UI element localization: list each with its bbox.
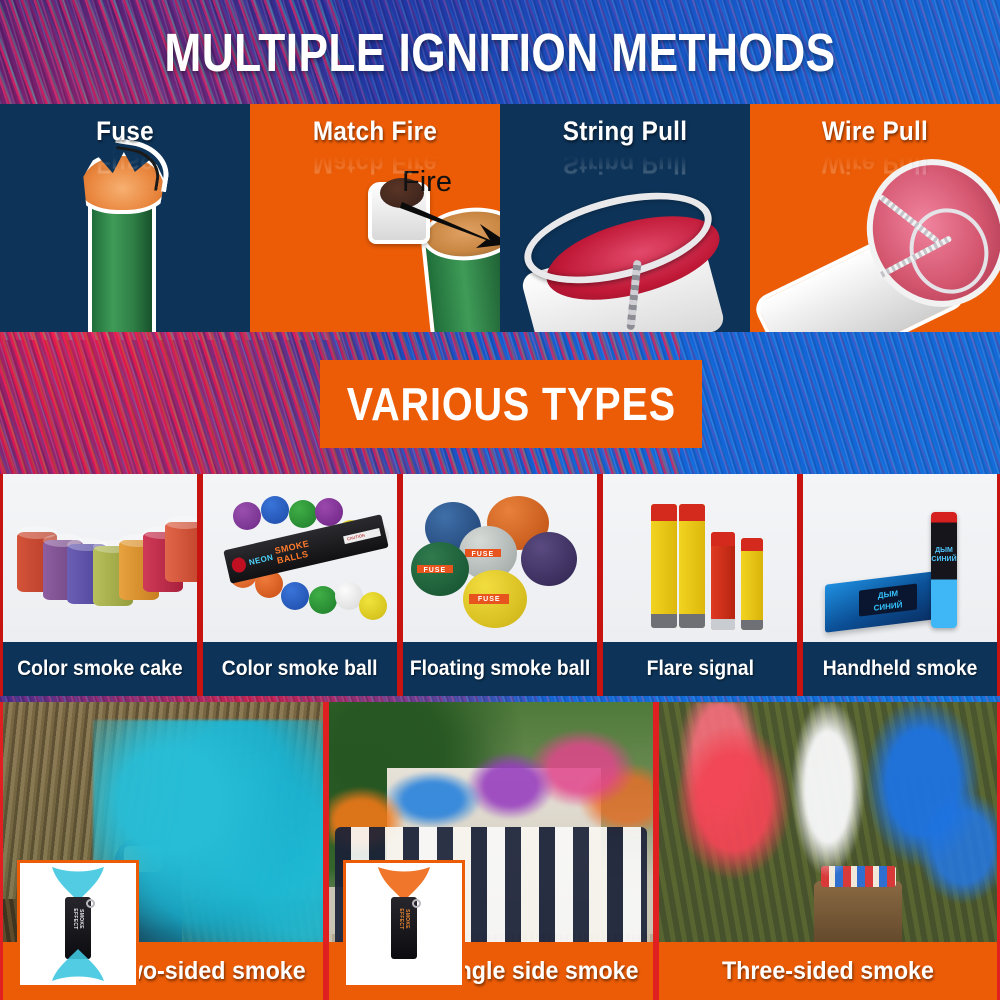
flare-foot-icon: [711, 619, 735, 630]
flare-cap-icon: [711, 532, 735, 546]
product-card-label-text: Flare signal: [646, 657, 753, 681]
flare-tube: [679, 504, 705, 628]
product-card-label-text: Floating smoke ball: [410, 657, 590, 681]
usage-scene-two-sided[interactable]: SMOKE EFFECT Two-sided smoke: [0, 702, 326, 1000]
package-caution-text: CAUTION: [343, 528, 381, 544]
smoke-ball: [233, 502, 261, 530]
ignition-method-reflection: Wire Pull: [763, 148, 988, 179]
pull-ring-icon: [412, 899, 421, 908]
flare-foot-icon: [651, 614, 677, 628]
various-types-title: VARIOUS TYPES: [346, 377, 675, 431]
ignition-method-text: Wire Pull: [822, 116, 928, 146]
flare-cap-icon: [651, 504, 677, 521]
ignition-method-reflection: Match Fire: [263, 148, 488, 179]
various-types-banner: VARIOUS TYPES: [320, 360, 702, 448]
flare-foot-icon: [679, 614, 705, 628]
product-inset-card: SMOKE EFFECT: [17, 860, 139, 988]
fuse-tag: FUSE: [465, 549, 501, 558]
handheld-tube-line1: ДЫМ: [931, 546, 957, 555]
ignition-method-reflection: String Pull: [513, 148, 738, 179]
smoke-ball: [261, 496, 289, 524]
ignition-method-label: Match Fire Match Fire: [263, 116, 488, 179]
ignition-method-string-pull[interactable]: String Pull String Pull: [500, 104, 750, 332]
ignition-method-text: Fuse: [96, 116, 154, 146]
product-card-label: Floating smoke ball: [403, 642, 597, 696]
handheld-tube-label: ДЫМ СИНИЙ: [931, 546, 957, 564]
pull-ring-icon: [86, 899, 95, 908]
product-image-color-smoke-cake: [3, 474, 197, 642]
usage-scene-label-text: Three-sided smoke: [722, 957, 934, 986]
product-card-label-text: Handheld smoke: [823, 657, 978, 681]
ignition-method-text: String Pull: [563, 116, 687, 146]
handheld-tube-line2: СИНИЙ: [931, 555, 957, 564]
inset-smoke-tube: SMOKE EFFECT: [391, 897, 417, 959]
smoke-ball: [289, 500, 317, 528]
smoke-plume-down-icon: [50, 949, 106, 983]
package-name-text: SMOKE BALLS: [274, 531, 344, 566]
product-card-label-text: Color smoke ball: [222, 657, 378, 681]
handheld-package-label: ДЫМ СИНИЙ: [859, 583, 917, 616]
smoke-plume-up-icon: [376, 865, 432, 901]
floating-ball: FUSE: [411, 542, 469, 596]
product-image-floating-smoke-ball: FUSE FUSE FUSE: [403, 474, 597, 642]
fuse-tag: FUSE: [469, 594, 509, 603]
product-image-flare-signal: [603, 474, 797, 642]
product-card-label: Flare signal: [603, 642, 797, 696]
flare-cap-icon: [741, 538, 763, 551]
package-brand-text: NEON: [248, 552, 274, 566]
product-card-color-smoke-ball[interactable]: NEON SMOKE BALLS CAUTION Color smoke bal…: [200, 474, 400, 696]
product-card-floating-smoke-ball[interactable]: FUSE FUSE FUSE Floating smoke ball: [400, 474, 600, 696]
fuse-tag: FUSE: [417, 565, 453, 574]
smoke-cake-graphic: [17, 518, 189, 604]
flare-cap-icon: [679, 504, 705, 521]
usage-scene-label-text: Two-sided smoke: [112, 957, 305, 986]
product-card-color-smoke-cake[interactable]: Color smoke cake: [0, 474, 200, 696]
ignition-method-fuse[interactable]: Fuse Fuse: [0, 104, 250, 332]
usage-scene-single-side[interactable]: SMOKE EFFECT Single side smoke: [326, 702, 656, 1000]
flare-foot-icon: [741, 620, 763, 630]
product-card-label: Color smoke ball: [203, 642, 397, 696]
flare-tube: [711, 532, 735, 630]
flare-tube: [741, 538, 763, 630]
cake-cylinder: [165, 522, 197, 582]
red-white-blue-smoke-plume: [659, 702, 997, 952]
ignition-method-label: Wire Pull Wire Pull: [763, 116, 988, 179]
handheld-package-box: ДЫМ СИНИЙ: [825, 571, 935, 633]
infographic-page: MULTIPLE IGNITION METHODS Fuse Fuse Fire…: [0, 0, 1000, 1000]
product-types-row: Color smoke cake NEON SMOKE: [0, 474, 1000, 696]
ignition-method-wire-pull[interactable]: Wire Pull Wire Pull: [750, 104, 1000, 332]
product-inset-card: SMOKE EFFECT: [343, 860, 465, 988]
handheld-smoke-tube: ДЫМ СИНИЙ: [931, 512, 957, 628]
ignition-method-label: Fuse Fuse: [13, 116, 238, 179]
floating-ball: [521, 532, 577, 586]
usage-scene-label-text: Single side smoke: [436, 957, 639, 986]
hero-section: MULTIPLE IGNITION METHODS: [0, 0, 1000, 104]
ignition-method-label: String Pull String Pull: [513, 116, 738, 179]
flare-tube: [651, 504, 677, 628]
smoke-plume-up-icon: [50, 865, 106, 901]
smoke-ball: [359, 592, 387, 620]
ignition-methods-row: Fuse Fuse Fire Match Fire Match Fire: [0, 104, 1000, 332]
arrow-icon: [398, 196, 500, 258]
inset-tube-label: SMOKE EFFECT: [398, 906, 410, 932]
smoke-ball: [315, 498, 343, 526]
ignition-method-text: Match Fire: [313, 116, 437, 146]
brand-logo-icon: [230, 556, 247, 574]
ignition-method-match-fire[interactable]: Fire Match Fire Match Fire: [250, 104, 500, 332]
product-card-flare-signal[interactable]: Flare signal: [600, 474, 800, 696]
smoke-ball: [309, 586, 337, 614]
product-card-label-text: Color smoke cake: [17, 657, 182, 681]
product-card-label: Handheld smoke: [803, 642, 997, 696]
smoke-ball: [281, 582, 309, 610]
floating-ball: FUSE: [463, 570, 527, 628]
inset-tube-label: SMOKE EFFECT: [72, 906, 84, 932]
product-card-handheld-smoke[interactable]: ДЫМ СИНИЙ ДЫМ СИНИЙ Handheld smoke: [800, 474, 1000, 696]
product-image-handheld-smoke: ДЫМ СИНИЙ ДЫМ СИНИЙ: [803, 474, 997, 642]
product-card-label: Color smoke cake: [3, 642, 197, 696]
usage-scenes-row: SMOKE EFFECT Two-sided smoke: [0, 702, 1000, 1000]
ignition-method-reflection: Fuse: [13, 148, 238, 179]
product-image-color-smoke-ball: NEON SMOKE BALLS CAUTION: [203, 474, 397, 642]
usage-scene-label: Three-sided smoke: [659, 942, 997, 1000]
page-title: MULTIPLE IGNITION METHODS: [90, 22, 910, 84]
usage-scene-three-sided[interactable]: Three-sided smoke: [656, 702, 1000, 1000]
